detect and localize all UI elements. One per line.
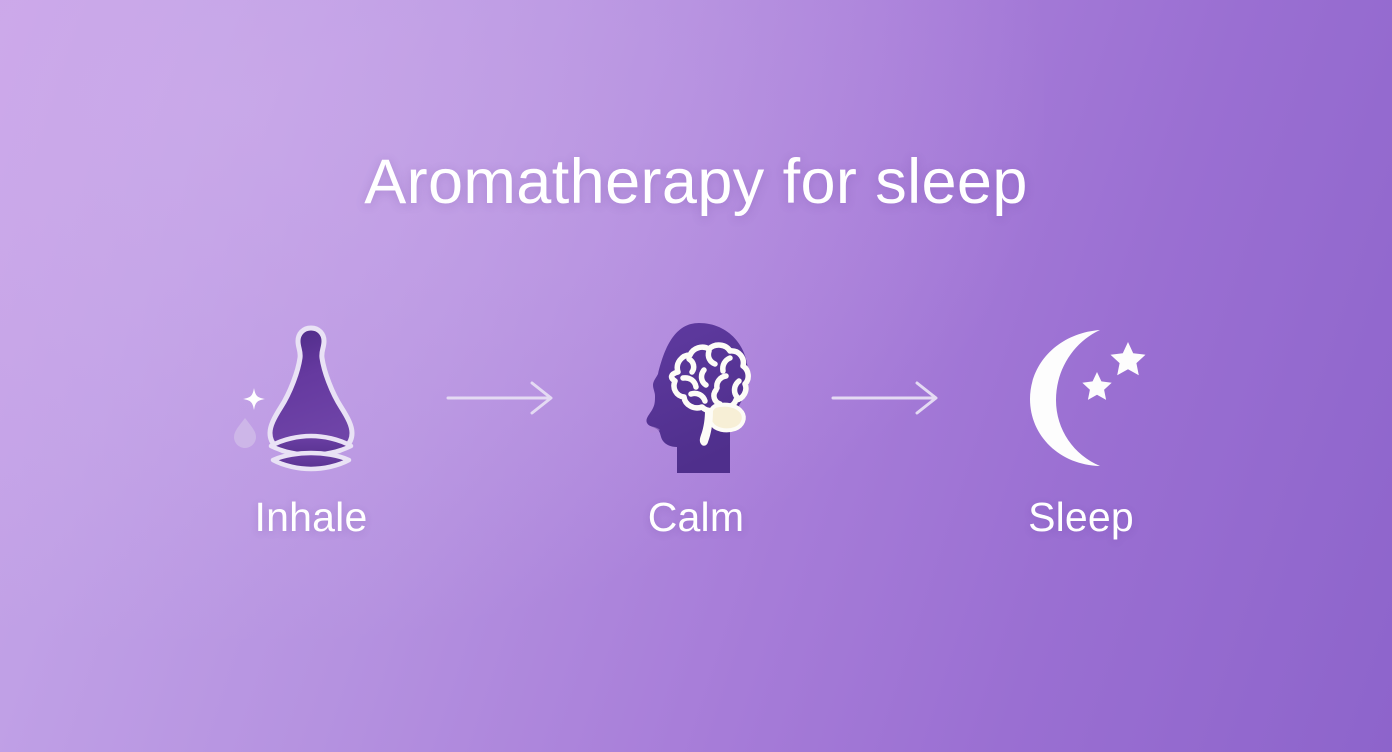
flow-connector-2 [801, 318, 976, 478]
nose-shape [270, 328, 352, 452]
arrow-right-icon [444, 378, 564, 418]
star-small-icon [1082, 372, 1111, 400]
lips-shape [271, 436, 351, 469]
nose-inhale-icon [227, 318, 395, 478]
star-large-icon [1111, 342, 1146, 375]
arrow-right-icon [829, 378, 949, 418]
flow-step-label-sleep: Sleep [1028, 494, 1134, 541]
flow-step-label-inhale: Inhale [255, 494, 368, 541]
flow-step-sleep[interactable]: Sleep [976, 318, 1186, 541]
crescent-moon-stars-icon [996, 318, 1166, 478]
flow-connector-1 [416, 318, 591, 478]
flow-step-calm[interactable]: Calm [591, 318, 801, 541]
flow-step-label-calm: Calm [648, 494, 744, 541]
sparkle-icon [243, 388, 265, 410]
head-brain-icon [621, 318, 771, 478]
aromatherapy-infographic: Aromatherapy for sleep [0, 0, 1392, 752]
flow-diagram: Inhale [0, 318, 1392, 568]
droplet-icon [234, 418, 256, 448]
flow-step-inhale[interactable]: Inhale [206, 318, 416, 541]
page-title: Aromatherapy for sleep [0, 148, 1392, 217]
